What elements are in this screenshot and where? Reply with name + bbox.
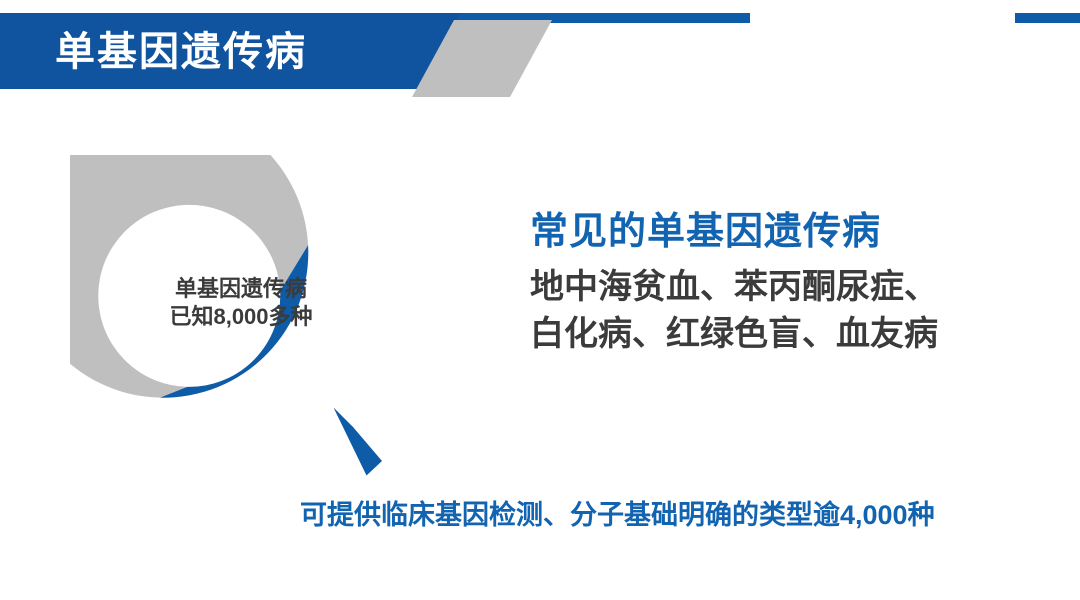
common-diseases-block: 常见的单基因遗传病 地中海贫血、苯丙酮尿症、 白化病、红绿色盲、血友病	[530, 212, 1050, 358]
page-title: 单基因遗传病	[55, 18, 415, 86]
common-diseases-list: 地中海贫血、苯丙酮尿症、 白化病、红绿色盲、血友病	[530, 264, 1050, 358]
common-diseases-line-1: 地中海贫血、苯丙酮尿症、	[530, 264, 1050, 311]
donut-tail	[334, 408, 383, 476]
donut-center-line-2: 已知8,000多种	[158, 303, 324, 331]
donut-center-line-1: 单基因遗传病	[158, 275, 324, 303]
slide-canvas: 单基因遗传病 单基因遗传病 已知8,000多种 常见的单基因遗传病 地中海贫血、…	[0, 0, 1080, 600]
donut-center-label: 单基因遗传病 已知8,000多种	[158, 275, 324, 331]
donut-chart: 单基因遗传病 已知8,000多种	[70, 155, 410, 495]
common-diseases-heading: 常见的单基因遗传病	[530, 212, 1050, 254]
common-diseases-line-2: 白化病、红绿色盲、血友病	[530, 311, 1050, 358]
header-accent-bar-right	[1015, 13, 1080, 23]
bottom-caption: 可提供临床基因检测、分子基础明确的类型逾4,000种	[300, 493, 1060, 532]
